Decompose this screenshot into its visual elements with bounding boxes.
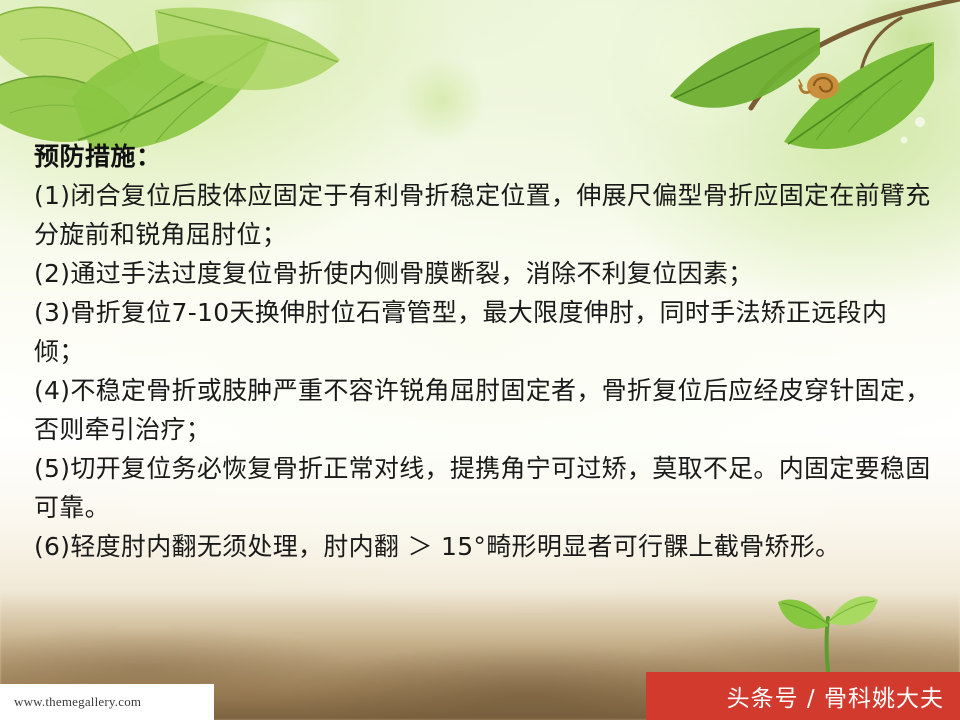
- paragraph-5: (5)切开复位务必恢复骨折正常对线，提携角宁可过矫，莫取不足。内固定要稳固可靠。: [34, 449, 934, 527]
- paragraph-3: (3)骨折复位7-10天换伸肘位石膏管型，最大限度伸肘，同时手法矫正远段内倾；: [34, 293, 934, 371]
- paragraph-1: (1)闭合复位后肢体应固定于有利骨折稳定位置，伸展尺偏型骨折应固定在前臂充分旋前…: [34, 176, 934, 254]
- footer-website-bar: www.themegallery.com: [0, 684, 214, 720]
- footer-website-text: www.themegallery.com: [14, 694, 141, 710]
- snail-icon: [795, 58, 855, 106]
- page-title: 预防措施：: [34, 138, 934, 176]
- paragraph-6: (6)轻度肘内翻无须处理，肘内翻 ＞ 15°畸形明显者可行髁上截骨矫形。: [34, 527, 934, 566]
- leaf-icon: [150, 0, 350, 130]
- sprout-icon: [772, 572, 882, 672]
- water-drop-icon: [915, 117, 925, 127]
- footer-author-bar: 头条号 / 骨科姚大夫: [646, 672, 960, 720]
- slide-text-body: 预防措施： (1)闭合复位后肢体应固定于有利骨折稳定位置，伸展尺偏型骨折应固定在…: [34, 138, 934, 566]
- footer-author-text: 头条号 / 骨科姚大夫: [727, 679, 944, 713]
- presentation-slide: 预防措施： (1)闭合复位后肢体应固定于有利骨折稳定位置，伸展尺偏型骨折应固定在…: [0, 0, 960, 720]
- paragraph-2: (2)通过手法过度复位骨折使内侧骨膜断裂，消除不利复位因素；: [34, 254, 934, 293]
- paragraph-4: (4)不稳定骨折或肢肿严重不容许锐角屈肘固定者，骨折复位后应经皮穿针固定，否则牵…: [34, 371, 934, 449]
